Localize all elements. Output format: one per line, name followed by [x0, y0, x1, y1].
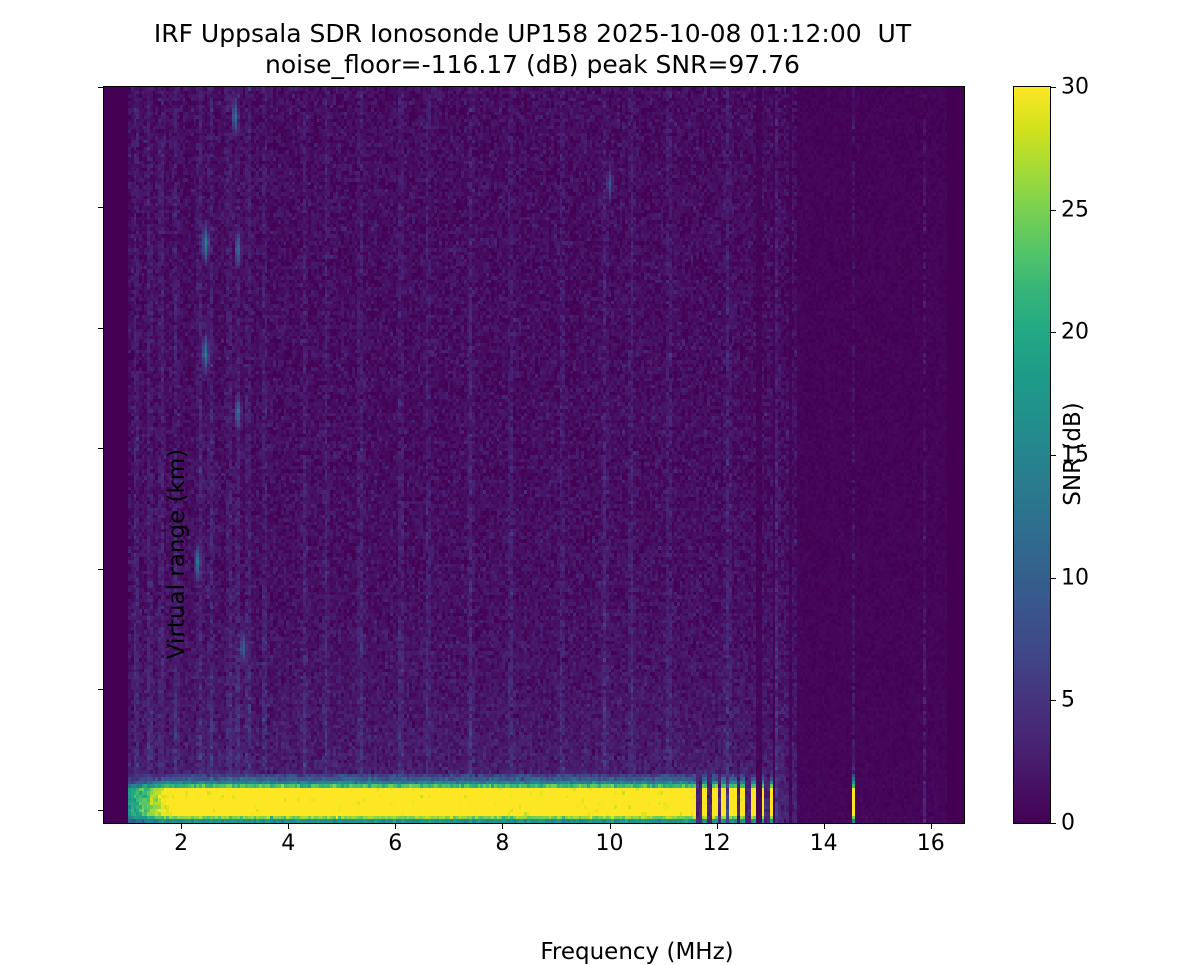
x-tick-mark	[288, 823, 289, 829]
colorbar-tick-mark	[1050, 700, 1056, 701]
y-tick-mark	[98, 87, 104, 88]
colorbar-tick-mark	[1050, 578, 1056, 579]
y-tick-mark	[98, 328, 104, 329]
colorbar-tick-label: 0	[1061, 811, 1075, 836]
x-tick-mark	[610, 823, 611, 829]
colorbar-tick-mark	[1050, 823, 1056, 824]
ionogram-heatmap	[104, 87, 964, 823]
colorbar-gradient	[1014, 87, 1050, 823]
y-tick-mark	[98, 569, 104, 570]
colorbar-tick-mark	[1050, 455, 1056, 456]
x-tick-label: 2	[174, 831, 188, 856]
colorbar-label: SNR (dB)	[1060, 254, 1086, 654]
x-tick-mark	[181, 823, 182, 829]
colorbar-tick-mark	[1050, 332, 1056, 333]
y-tick-mark	[98, 448, 104, 449]
x-tick-mark	[502, 823, 503, 829]
y-axis-label: Virtual range (km)	[164, 354, 190, 754]
colorbar-tick-mark	[1050, 87, 1056, 88]
x-tick-label: 16	[917, 831, 945, 856]
ionogram-figure: IRF Uppsala SDR Ionosonde UP158 2025-10-…	[0, 0, 1200, 900]
x-tick-label: 8	[495, 831, 509, 856]
y-tick-mark	[98, 207, 104, 208]
title-line-1: IRF Uppsala SDR Ionosonde UP158 2025-10-…	[0, 18, 1065, 49]
x-tick-mark	[824, 823, 825, 829]
y-tick-mark	[98, 689, 104, 690]
figure-title: IRF Uppsala SDR Ionosonde UP158 2025-10-…	[0, 18, 1065, 80]
colorbar-tick-mark	[1050, 210, 1056, 211]
x-tick-label: 4	[281, 831, 295, 856]
title-line-2: noise_floor=-116.17 (dB) peak SNR=97.76	[0, 49, 1065, 80]
x-axis-label: Frequency (MHz)	[207, 939, 1067, 965]
x-tick-mark	[717, 823, 718, 829]
ionogram-axes: 0100200300400500600 246810121416 Frequen…	[103, 86, 965, 824]
x-tick-mark	[931, 823, 932, 829]
x-tick-label: 14	[810, 831, 838, 856]
snr-colorbar: 051015202530	[1013, 86, 1051, 824]
colorbar-tick-label: 25	[1061, 197, 1089, 222]
x-tick-mark	[395, 823, 396, 829]
x-tick-label: 12	[703, 831, 731, 856]
x-tick-label: 6	[388, 831, 402, 856]
y-tick-mark	[98, 810, 104, 811]
x-tick-label: 10	[596, 831, 624, 856]
colorbar-tick-label: 5	[1061, 688, 1075, 713]
colorbar-tick-label: 30	[1061, 75, 1089, 100]
